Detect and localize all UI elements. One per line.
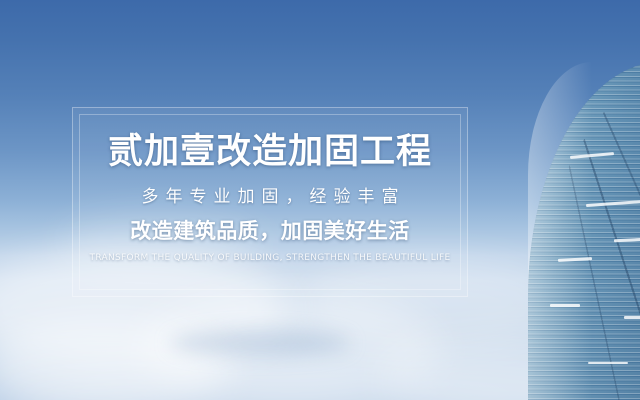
- text-panel: 贰加壹改造加固工程 多年专业加固，经验丰富 改造建筑品质，加固美好生活 TRAN…: [72, 107, 468, 297]
- window-glint: [588, 362, 628, 364]
- window-glint: [550, 304, 580, 307]
- building-silhouette: [528, 62, 640, 400]
- banner-tagline: 改造建筑品质，加固美好生活: [130, 218, 410, 244]
- banner-subline: 多年专业加固，经验丰富: [135, 186, 406, 208]
- banner-english-subtitle: TRANSFORM THE QUALITY OF BUILDING, STREN…: [90, 252, 451, 264]
- hero-banner: 贰加壹改造加固工程 多年专业加固，经验丰富 改造建筑品质，加固美好生活 TRAN…: [0, 0, 640, 400]
- panel-content: 贰加壹改造加固工程 多年专业加固，经验丰富 改造建筑品质，加固美好生活 TRAN…: [73, 108, 467, 296]
- banner-headline: 贰加壹改造加固工程: [108, 131, 432, 173]
- skyscraper-illustration: [498, 0, 640, 400]
- building-glass-sheen: [528, 62, 592, 400]
- window-glint: [624, 316, 640, 319]
